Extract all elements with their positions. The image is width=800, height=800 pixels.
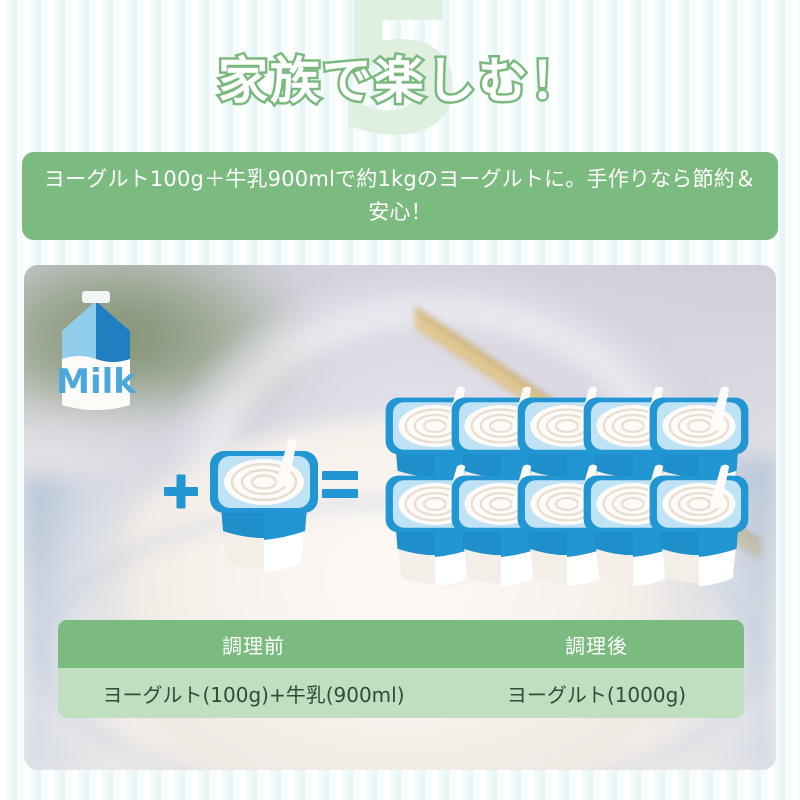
- comparison-table: 調理前 調理後 ヨーグルト(100g)+牛乳(900ml) ヨーグルト(1000…: [58, 620, 744, 718]
- table-cell-after: ヨーグルト(1000g): [449, 668, 744, 718]
- result-yogurt-cups: [386, 387, 749, 587]
- table-header-after: 調理後: [449, 620, 744, 668]
- page-title: 家族で楽しむ！: [0, 54, 800, 109]
- yogurt-cup-row-front: [386, 465, 749, 587]
- table-cell-before: ヨーグルト(100g)+牛乳(900ml): [58, 668, 449, 718]
- equals-sign-icon: [322, 471, 358, 498]
- table-row: ヨーグルト(100g)+牛乳(900ml) ヨーグルト(1000g): [58, 668, 744, 718]
- plus-sign-icon: [164, 475, 198, 509]
- svg-text:Milk: Milk: [56, 362, 137, 402]
- table-header-row: 調理前 調理後: [58, 620, 744, 668]
- page-root: 5 家族で楽しむ！ ヨーグルト100g＋牛乳900mlで約1kgのヨーグルトに。…: [0, 0, 800, 800]
- table-header-before: 調理前: [58, 620, 449, 668]
- photo-card: Milk: [24, 265, 776, 770]
- milk-carton-icon: Milk: [56, 291, 137, 410]
- description-banner: ヨーグルト100g＋牛乳900mlで約1kgのヨーグルトに。手作りなら節約＆安心…: [22, 152, 778, 240]
- description-banner-text: ヨーグルト100g＋牛乳900mlで約1kgのヨーグルトに。手作りなら節約＆安心…: [38, 163, 762, 228]
- source-yogurt-cup: [210, 439, 318, 572]
